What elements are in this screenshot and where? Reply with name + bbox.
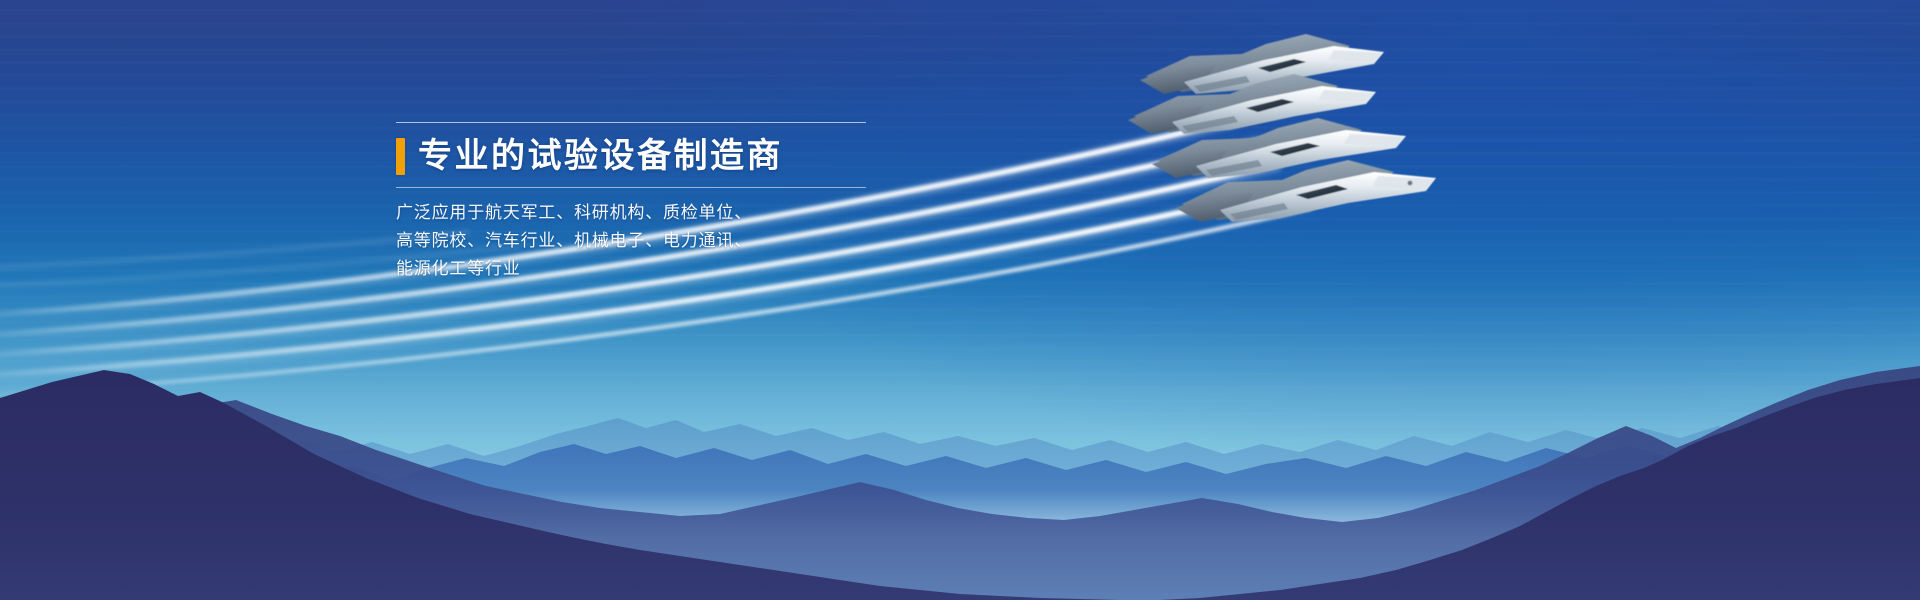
hero-subtitle: 广泛应用于航天军工、科研机构、质检单位、 高等院校、汽车行业、机械电子、电力通讯… — [396, 199, 896, 283]
hero-text-block: 专业的试验设备制造商 广泛应用于航天军工、科研机构、质检单位、 高等院校、汽车行… — [396, 122, 896, 283]
divider-top — [396, 122, 866, 123]
accent-bar-icon — [396, 138, 405, 175]
hero-banner: 专业的试验设备制造商 广泛应用于航天军工、科研机构、质检单位、 高等院校、汽车行… — [0, 0, 1920, 600]
divider-bottom — [396, 187, 866, 188]
subtitle-line-3: 能源化工等行业 — [396, 255, 896, 283]
subtitle-line-2: 高等院校、汽车行业、机械电子、电力通讯、 — [396, 227, 896, 255]
nose-marking — [1408, 181, 1413, 186]
headline-row: 专业的试验设备制造商 — [396, 132, 896, 180]
fighter-jet-formation — [1120, 30, 1540, 280]
subtitle-line-1: 广泛应用于航天军工、科研机构、质检单位、 — [396, 199, 896, 227]
page-title: 专业的试验设备制造商 — [405, 136, 783, 176]
mountain-silhouettes — [0, 340, 1920, 600]
